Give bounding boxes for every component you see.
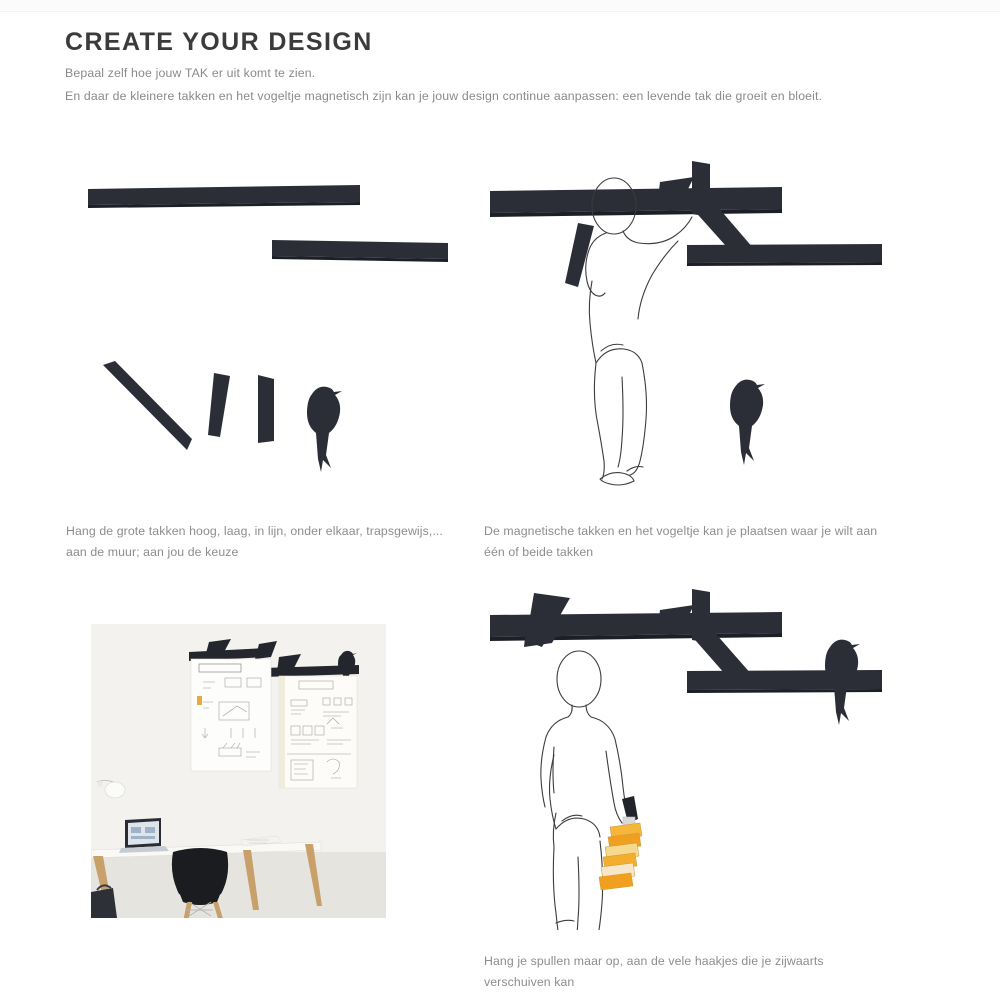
caption-hooks: Hang je spullen maar op, aan de vele haa… [484, 951, 884, 993]
long-rail-top [88, 185, 360, 205]
small-branch-b [258, 375, 274, 443]
large-diagonal-branch [103, 361, 192, 450]
caption-branch-components: Hang de grote takken hoog, laag, in lijn… [66, 521, 451, 563]
figure-reaching-up-illustration [482, 155, 892, 490]
intro-paragraph-1: Bepaal zelf hoe jouw TAK er uit komt te … [65, 66, 315, 80]
page-title: CREATE YOUR DESIGN [65, 28, 373, 57]
rail-lower [687, 244, 882, 263]
small-branch-a [208, 373, 230, 437]
page-root: CREATE YOUR DESIGN Bepaal zelf hoe jouw … [0, 0, 1000, 1000]
color-swatch-fan [599, 796, 642, 890]
held-branch-piece [565, 223, 594, 287]
figure-with-swatch-illustration [482, 585, 892, 930]
branch-components-illustration [62, 155, 462, 485]
figure-outline [586, 178, 692, 485]
bird-silhouette [307, 387, 342, 472]
caption-magnetic-branches: De magnetische takken en het vogeltje ka… [484, 521, 884, 563]
long-rail-second [272, 240, 448, 259]
office-interior-photo [91, 624, 386, 918]
poster-right [279, 676, 357, 788]
intro-paragraph-2: En daar de kleinere takken en het vogelt… [65, 89, 822, 103]
bird-silhouette [730, 380, 765, 465]
top-band [0, 0, 1000, 12]
poster-left [191, 659, 271, 771]
